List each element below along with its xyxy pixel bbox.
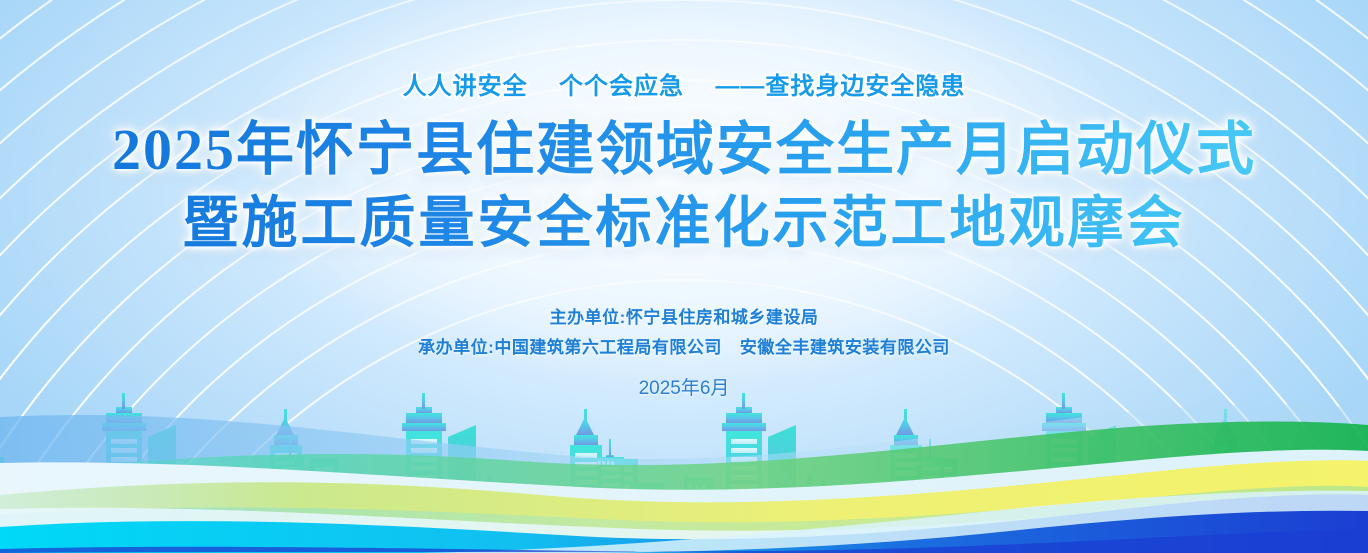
event-date: 2025年6月 — [0, 373, 1368, 400]
slogan-part-1: 人人讲安全 — [403, 66, 528, 101]
co-organizer-label: 承办单位: — [418, 338, 494, 357]
slogan-part-2: 个个会应急 — [559, 66, 684, 101]
co-organizer-name-1: 中国建筑第六工程局有限公司 — [494, 338, 722, 357]
slogan-line: 人人讲安全 个个会应急 ——查找身边安全隐患 — [0, 66, 1368, 101]
organizer-block: 主办单位:怀宁县住房和城乡建设局 承办单位:中国建筑第六工程局有限公司安徽全丰建… — [0, 303, 1368, 400]
title-block: 2025年怀宁县住建领域安全生产月启动仪式 暨施工质量安全标准化示范工地观摩会 — [0, 113, 1368, 261]
banner-content: 人人讲安全 个个会应急 ——查找身边安全隐患 2025年怀宁县住建领域安全生产月… — [0, 0, 1368, 400]
main-title-line-2: 暨施工质量安全标准化示范工地观摩会 — [0, 187, 1368, 261]
co-organizer-line: 承办单位:中国建筑第六工程局有限公司安徽全丰建筑安装有限公司 — [0, 333, 1368, 363]
co-organizer-name-2: 安徽全丰建筑安装有限公司 — [740, 338, 950, 357]
main-title-line-1: 2025年怀宁县住建领域安全生产月启动仪式 — [0, 113, 1368, 187]
slogan-part-3: ——查找身边安全隐患 — [715, 66, 965, 101]
wave-decoration — [0, 403, 1368, 553]
event-banner: 人人讲安全 个个会应急 ——查找身边安全隐患 2025年怀宁县住建领域安全生产月… — [0, 0, 1368, 553]
main-title: 2025年怀宁县住建领域安全生产月启动仪式 暨施工质量安全标准化示范工地观摩会 — [0, 113, 1368, 261]
host-organizer-line: 主办单位:怀宁县住房和城乡建设局 — [0, 303, 1368, 333]
